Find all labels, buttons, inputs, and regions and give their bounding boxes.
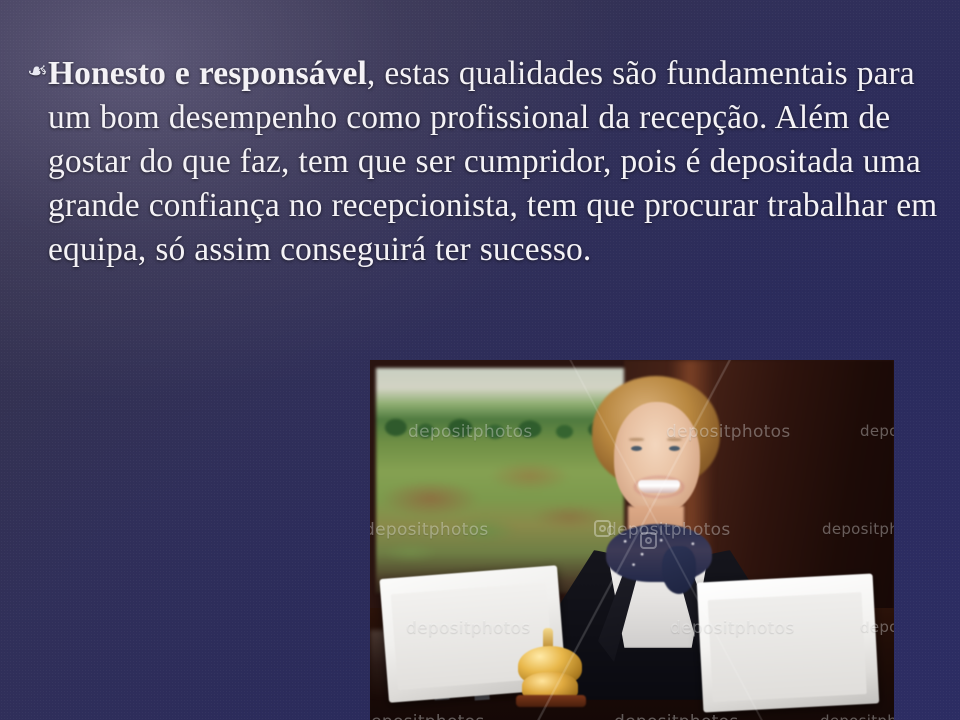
person-eye-right <box>669 446 680 451</box>
person-neck-scarf <box>606 524 712 582</box>
person-eye-left <box>631 446 642 451</box>
bullet-text-block: ❧ Honesto e responsável, estas qualidade… <box>0 52 960 272</box>
body-paragraph: Honesto e responsável, estas qualidades … <box>48 52 946 272</box>
presentation-slide: ❧ Honesto e responsável, estas qualidade… <box>0 0 960 720</box>
photo-content: depositphotosdepositphotosdepositphotosd… <box>370 360 894 720</box>
paragraph-lead-bold: Honesto e responsável <box>48 55 367 92</box>
painting-treeline <box>376 398 624 440</box>
person-eyebrow-right <box>667 438 682 441</box>
reception-photo: depositphotosdepositphotosdepositphotosd… <box>370 360 894 720</box>
person-eyebrow-left <box>629 438 644 441</box>
florette-bullet-icon: ❧ <box>13 58 49 85</box>
service-bell-base <box>516 695 586 707</box>
scarf-knot <box>662 546 696 594</box>
monitor-right <box>697 573 880 712</box>
person-smile-teeth <box>638 480 680 493</box>
